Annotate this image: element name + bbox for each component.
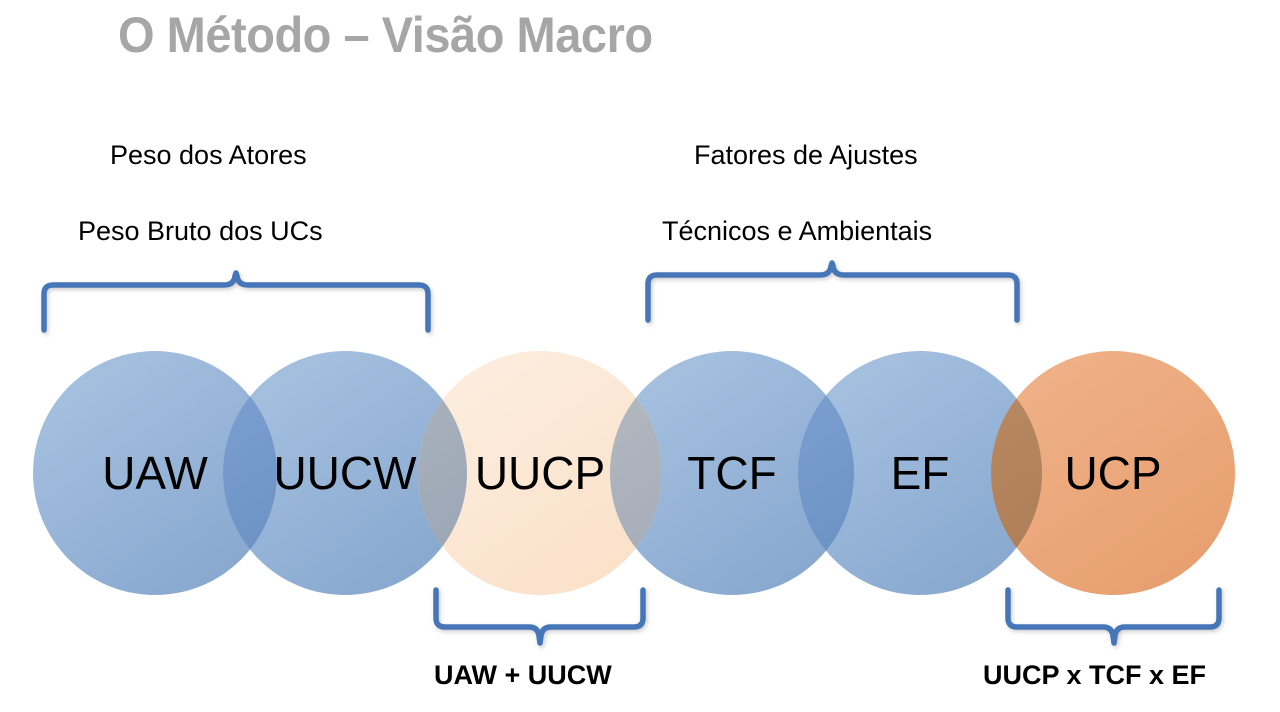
brace-top-left-icon bbox=[36, 272, 436, 334]
caption-peso-bruto-dos-ucs: Peso Bruto dos UCs bbox=[78, 216, 323, 247]
caption-peso-dos-atores: Peso dos Atores bbox=[110, 140, 307, 171]
slide-canvas: O Método – Visão Macro Peso dos Atores P… bbox=[0, 0, 1280, 712]
venn-label-tcf: TCF bbox=[687, 446, 776, 500]
caption-fatores-de-ajustes: Fatores de Ajustes bbox=[694, 140, 918, 171]
venn-label-ef: EF bbox=[891, 446, 950, 500]
venn-diagram: UAW UUCW UUCP TCF EF UCP bbox=[0, 330, 1280, 610]
venn-label-uaw: UAW bbox=[102, 446, 208, 500]
page-title: O Método – Visão Macro bbox=[118, 6, 653, 64]
venn-label-uucw: UUCW bbox=[273, 446, 416, 500]
venn-label-ucp: UCP bbox=[1064, 446, 1161, 500]
brace-top-right-icon bbox=[640, 262, 1025, 324]
venn-label-uucp: UUCP bbox=[475, 446, 605, 500]
caption-uucp-x-tcf-x-ef: UUCP x TCF x EF bbox=[983, 660, 1206, 691]
caption-uaw-plus-uucw: UAW + UUCW bbox=[434, 660, 612, 691]
caption-tecnicos-e-ambientais: Técnicos e Ambientais bbox=[662, 216, 932, 247]
brace-bottom-right-icon bbox=[1000, 588, 1226, 648]
brace-bottom-left-icon bbox=[428, 588, 650, 648]
